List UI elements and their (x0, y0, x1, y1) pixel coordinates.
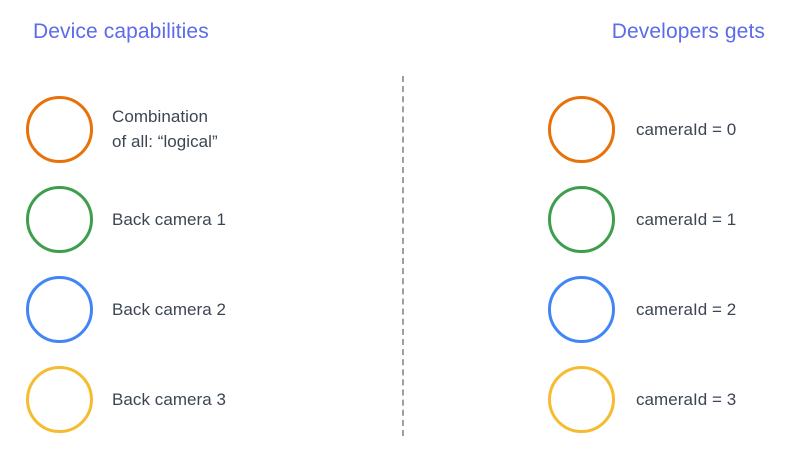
capability-label: Back camera 3 (112, 387, 226, 412)
camera-circle-green-icon (548, 186, 615, 253)
camera-id-label: cameraId = 3 (636, 387, 736, 412)
device-capabilities-column: Combination of all: “logical” Back camer… (26, 84, 226, 444)
capability-label: Combination of all: “logical” (112, 104, 218, 154)
camera-id-row: cameraId = 2 (548, 264, 736, 354)
capability-label: Back camera 2 (112, 297, 226, 322)
capability-row: Combination of all: “logical” (26, 84, 226, 174)
camera-id-label: cameraId = 2 (636, 297, 736, 322)
camera-circle-orange-icon (548, 96, 615, 163)
camera-circle-blue-icon (26, 276, 93, 343)
capability-row: Back camera 1 (26, 174, 226, 264)
camera-circle-orange-icon (26, 96, 93, 163)
vertical-dashed-divider (402, 76, 404, 436)
camera-id-row: cameraId = 1 (548, 174, 736, 264)
right-column-header: Developers gets (612, 20, 765, 44)
camera-circle-yellow-icon (548, 366, 615, 433)
developers-gets-column: cameraId = 0 cameraId = 1 cameraId = 2 c… (548, 84, 736, 444)
capability-row: Back camera 3 (26, 354, 226, 444)
camera-id-row: cameraId = 0 (548, 84, 736, 174)
camera-circle-blue-icon (548, 276, 615, 343)
diagram-canvas: Device capabilities Developers gets Comb… (0, 0, 800, 467)
left-column-header: Device capabilities (33, 20, 209, 44)
capability-row: Back camera 2 (26, 264, 226, 354)
camera-circle-yellow-icon (26, 366, 93, 433)
capability-label: Back camera 1 (112, 207, 226, 232)
camera-circle-green-icon (26, 186, 93, 253)
camera-id-label: cameraId = 0 (636, 117, 736, 142)
camera-id-label: cameraId = 1 (636, 207, 736, 232)
camera-id-row: cameraId = 3 (548, 354, 736, 444)
